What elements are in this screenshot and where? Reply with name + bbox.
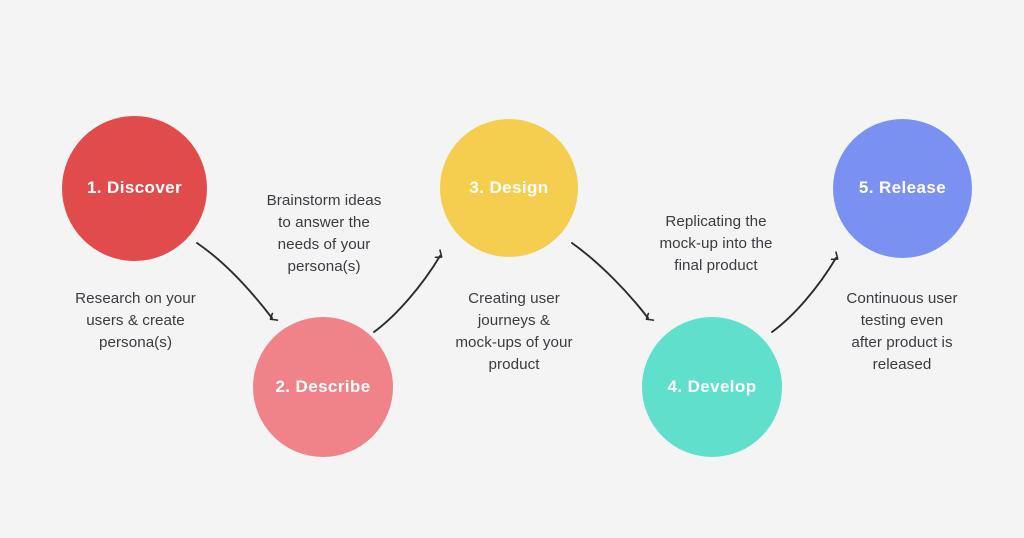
stage-circle-release[interactable]: 5. Release: [833, 119, 972, 258]
stage-label-design: 3. Design: [469, 179, 548, 198]
stage-caption-design: Creating user journeys & mock-ups of you…: [428, 288, 600, 376]
stage-label-describe: 2. Describe: [275, 378, 370, 397]
stage-circle-design[interactable]: 3. Design: [440, 119, 578, 257]
stage-circle-discover[interactable]: 1. Discover: [62, 116, 207, 261]
stage-caption-describe: Brainstorm ideas to answer the needs of …: [238, 190, 410, 278]
stage-circle-describe[interactable]: 2. Describe: [253, 317, 393, 457]
design-process-diagram: 1. Discover Research on your users & cre…: [0, 0, 1024, 538]
stage-caption-discover: Research on your users & create persona(…: [38, 288, 233, 354]
stage-label-develop: 4. Develop: [667, 378, 756, 397]
stage-caption-release: Continuous user testing even after produ…: [812, 288, 992, 376]
connector-arrows: [0, 0, 1024, 538]
stage-circle-develop[interactable]: 4. Develop: [642, 317, 782, 457]
stage-label-release: 5. Release: [859, 179, 946, 198]
stage-label-discover: 1. Discover: [87, 179, 182, 198]
stage-caption-develop: Replicating the mock-up into the final p…: [630, 211, 802, 277]
